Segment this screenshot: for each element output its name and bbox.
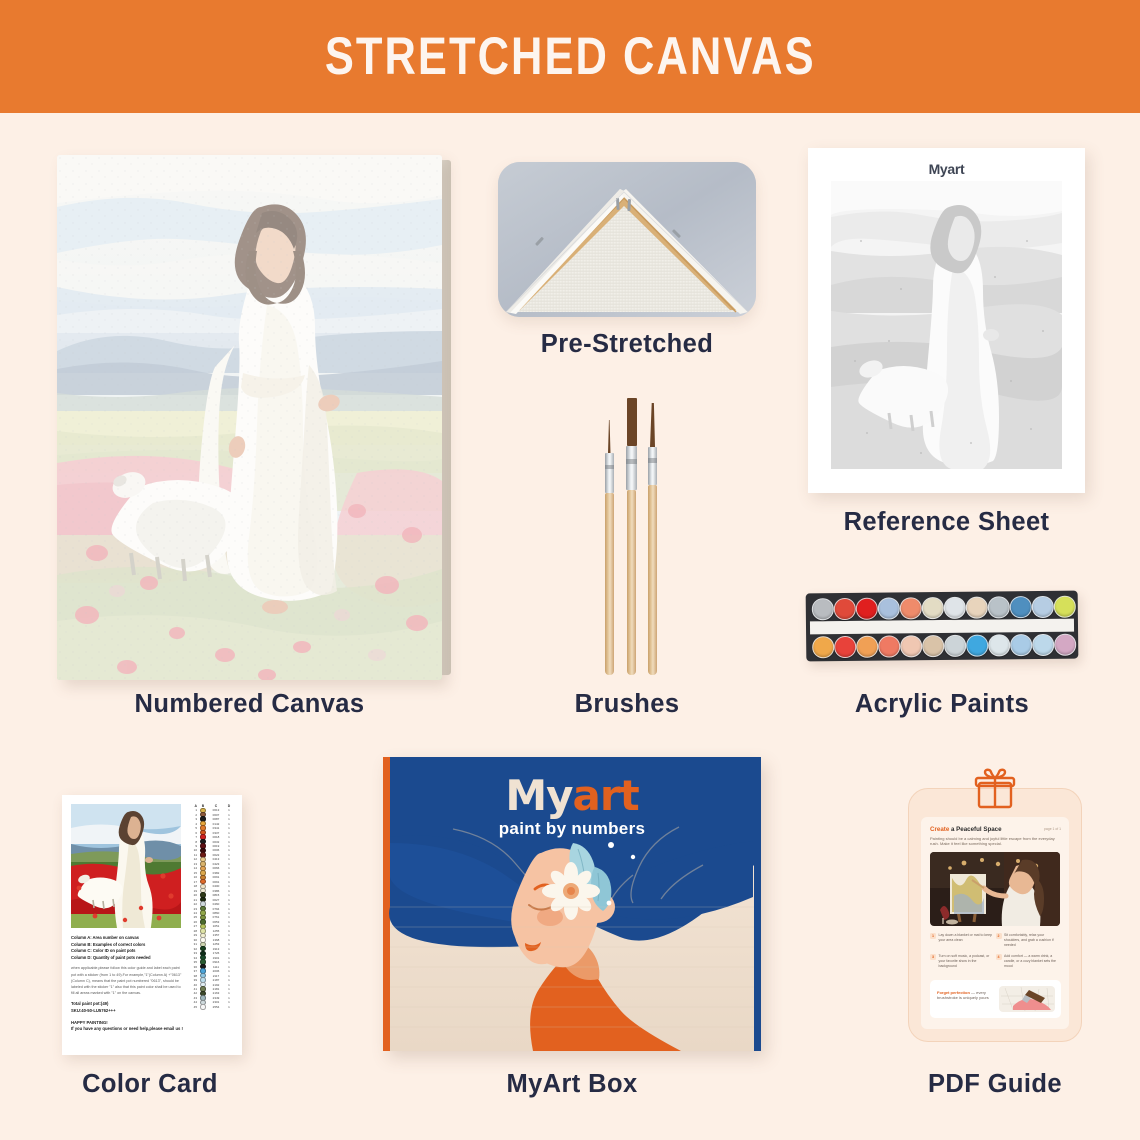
reference-sheet-label: Reference Sheet (808, 508, 1085, 537)
color-card-body-text: when applicable,please follow this color… (71, 965, 183, 996)
paint-pot (900, 635, 922, 657)
paint-pot (812, 636, 834, 658)
paint-pot (856, 598, 878, 620)
pdf-guide-tip: 3Turn on soft music, a podcast, or your … (930, 954, 996, 969)
myart-logo: Myart (383, 771, 761, 820)
paint-pot (944, 635, 966, 657)
brush-round-medium (648, 403, 657, 675)
pre-stretched-label: Pre-Stretched (498, 330, 756, 359)
pdf-note-photo (999, 986, 1055, 1012)
color-card-artwork (71, 804, 181, 928)
color-card-heading-a: Column A: Area number on canvas (71, 935, 183, 942)
logo-my-text: My (505, 771, 572, 820)
pdf-guide-label: PDF Guide (900, 1070, 1090, 1099)
pdf-page-number: page 1 of 1 (1044, 827, 1061, 831)
paint-pot (1010, 634, 1032, 656)
pdf-guide-photo (930, 852, 1060, 926)
pdf-guide-tip: 2Sit comfortably, relax your shoulders, … (996, 933, 1062, 948)
brush-bristles (627, 398, 637, 446)
paint-label-strip (810, 619, 1074, 635)
color-card-label: Color Card (50, 1070, 250, 1099)
page-title: STRETCHED CANVAS (325, 26, 816, 87)
paint-pot (966, 597, 988, 619)
paint-pots-grid (806, 591, 1078, 594)
color-card-product: Column A: Area number on canvas Column B… (62, 795, 242, 1055)
color-card-row: 4525541 (190, 1005, 236, 1009)
paint-pot (944, 597, 966, 619)
paint-pot (878, 635, 900, 657)
reference-sheet-product: Myart (808, 148, 1085, 493)
paint-by-numbers-artwork (57, 155, 442, 680)
paint-pot (878, 597, 900, 619)
pdf-note-text: Forget perfection — every brushstroke is… (937, 990, 997, 1000)
pdf-guide-product: Create a Peaceful Space page 1 of 1 Pain… (908, 788, 1082, 1042)
paint-pot (834, 598, 856, 620)
paint-pot (922, 635, 944, 657)
reference-sheet-logo: Myart (808, 161, 1085, 177)
brush-bristles (608, 420, 611, 453)
color-card-total-pots: Total paint pot:(49) (71, 1001, 183, 1008)
paint-pot (988, 596, 1010, 618)
acrylic-paints-product (806, 591, 1079, 662)
paint-pot (1054, 634, 1076, 656)
pdf-guide-subtitle: Painting should be a calming and joyful … (930, 836, 1060, 847)
pre-stretched-product (498, 162, 756, 317)
paint-pot (1032, 634, 1054, 656)
pdf-heading-accent: Create (930, 826, 949, 833)
paint-pot (1054, 596, 1076, 618)
page-header: STRETCHED CANVAS (0, 0, 1140, 113)
canvas-front-face (57, 155, 442, 680)
color-card-happy-painting: HAPPY PAINTING! (71, 1020, 183, 1027)
color-card-table: A B C D 10613120607130087140142150341160… (190, 804, 236, 1009)
paint-pot (922, 597, 944, 619)
pdf-guide-page: Create a Peaceful Space page 1 of 1 Pain… (921, 817, 1069, 1029)
acrylic-paints-label: Acrylic Paints (806, 690, 1078, 719)
paint-pot (834, 636, 856, 658)
paint-pot (966, 635, 988, 657)
paint-pot (988, 634, 1010, 656)
paint-pot (900, 597, 922, 619)
gift-icon (972, 768, 1018, 815)
reference-sheet-artwork (831, 181, 1062, 469)
color-card-heading-b: Column B: Examples of correct colors (71, 942, 183, 949)
pdf-guide-tips: 1Lay down a blanket or mat to keep your … (930, 933, 1061, 974)
pdf-heading-rest: a Peaceful Space (949, 826, 1001, 833)
pdf-guide-heading: Create a Peaceful Space (930, 826, 1002, 833)
myart-tagline: paint by numbers (383, 819, 761, 839)
numbered-canvas-label: Numbered Canvas (57, 690, 442, 719)
color-card-heading-d: Column D: Quantity of paint pots needed (71, 955, 183, 962)
logo-art-text: art (573, 771, 639, 820)
brushes-label: Brushes (498, 690, 756, 719)
pdf-guide-tip: 1Lay down a blanket or mat to keep your … (930, 933, 996, 948)
paint-pot (812, 598, 834, 620)
numbered-canvas-product (57, 155, 442, 680)
brush-round-fine (605, 420, 614, 675)
color-card-heading-c: Column C: Color ID on paint pots (71, 948, 183, 955)
color-card-sku: SKU:40-50-LU5762+++ (71, 1008, 183, 1015)
color-card-contact: If you have any questions or need help,p… (71, 1026, 183, 1033)
brush-bristles (650, 403, 655, 447)
paint-pot (1032, 596, 1054, 618)
color-card-instructions: Column A: Area number on canvas Column B… (71, 935, 183, 1033)
pdf-guide-tip: 4Add comfort — a warm drink, a candle, o… (996, 954, 1062, 969)
myart-box-product: Myart paint by numbers (383, 757, 761, 1051)
brush-flat (626, 398, 637, 675)
brushes-product (585, 390, 675, 675)
pdf-guide-note: Forget perfection — every brushstroke is… (930, 980, 1061, 1018)
paint-pot (1010, 596, 1032, 618)
paint-pot (856, 636, 878, 658)
myart-box-label: MyArt Box (383, 1070, 761, 1099)
